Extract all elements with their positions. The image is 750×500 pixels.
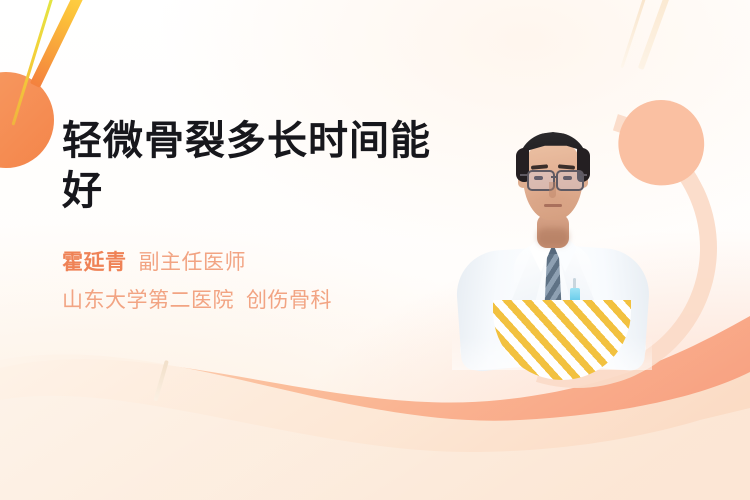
article-title: 轻微骨裂多长时间能好 [62,116,442,216]
doctor-credential-line: 霍延青副主任医师 [62,249,246,277]
wave-cream [0,354,750,500]
photo-bottom-fade [452,314,652,370]
nose [549,182,556,198]
doctor-title: 副主任医师 [139,251,247,274]
orange-stripe-thick-decoration [30,0,96,88]
doctor-affiliation-line: 山东大学第二医院创伤骨科 [62,287,332,315]
hospital-name: 山东大学第二医院 [62,289,234,312]
cream-stripe-a-decoration [638,0,678,70]
health-article-cover-card: 轻微骨裂多长时间能好 霍延青副主任医师 山东大学第二医院创伤骨科 [0,0,750,500]
neck-shadow [537,228,569,246]
department-name: 创伤骨科 [246,289,332,312]
doctor-portrait-photo [452,118,652,363]
mouth [544,204,562,207]
glasses-bridge [551,176,556,178]
glasses-temple-left [520,174,528,176]
cream-stripe-b-decoration [620,0,653,68]
yellow-stripe-thin-decoration [11,0,62,126]
faint-stripe-bottom-left-decoration [153,360,168,401]
wave-cream-inner [0,396,750,500]
pocket-pen-icon [570,288,580,314]
glasses-temple-right [579,174,587,176]
orange-circle-decoration [0,72,54,168]
doctor-name: 霍延青 [62,251,127,274]
